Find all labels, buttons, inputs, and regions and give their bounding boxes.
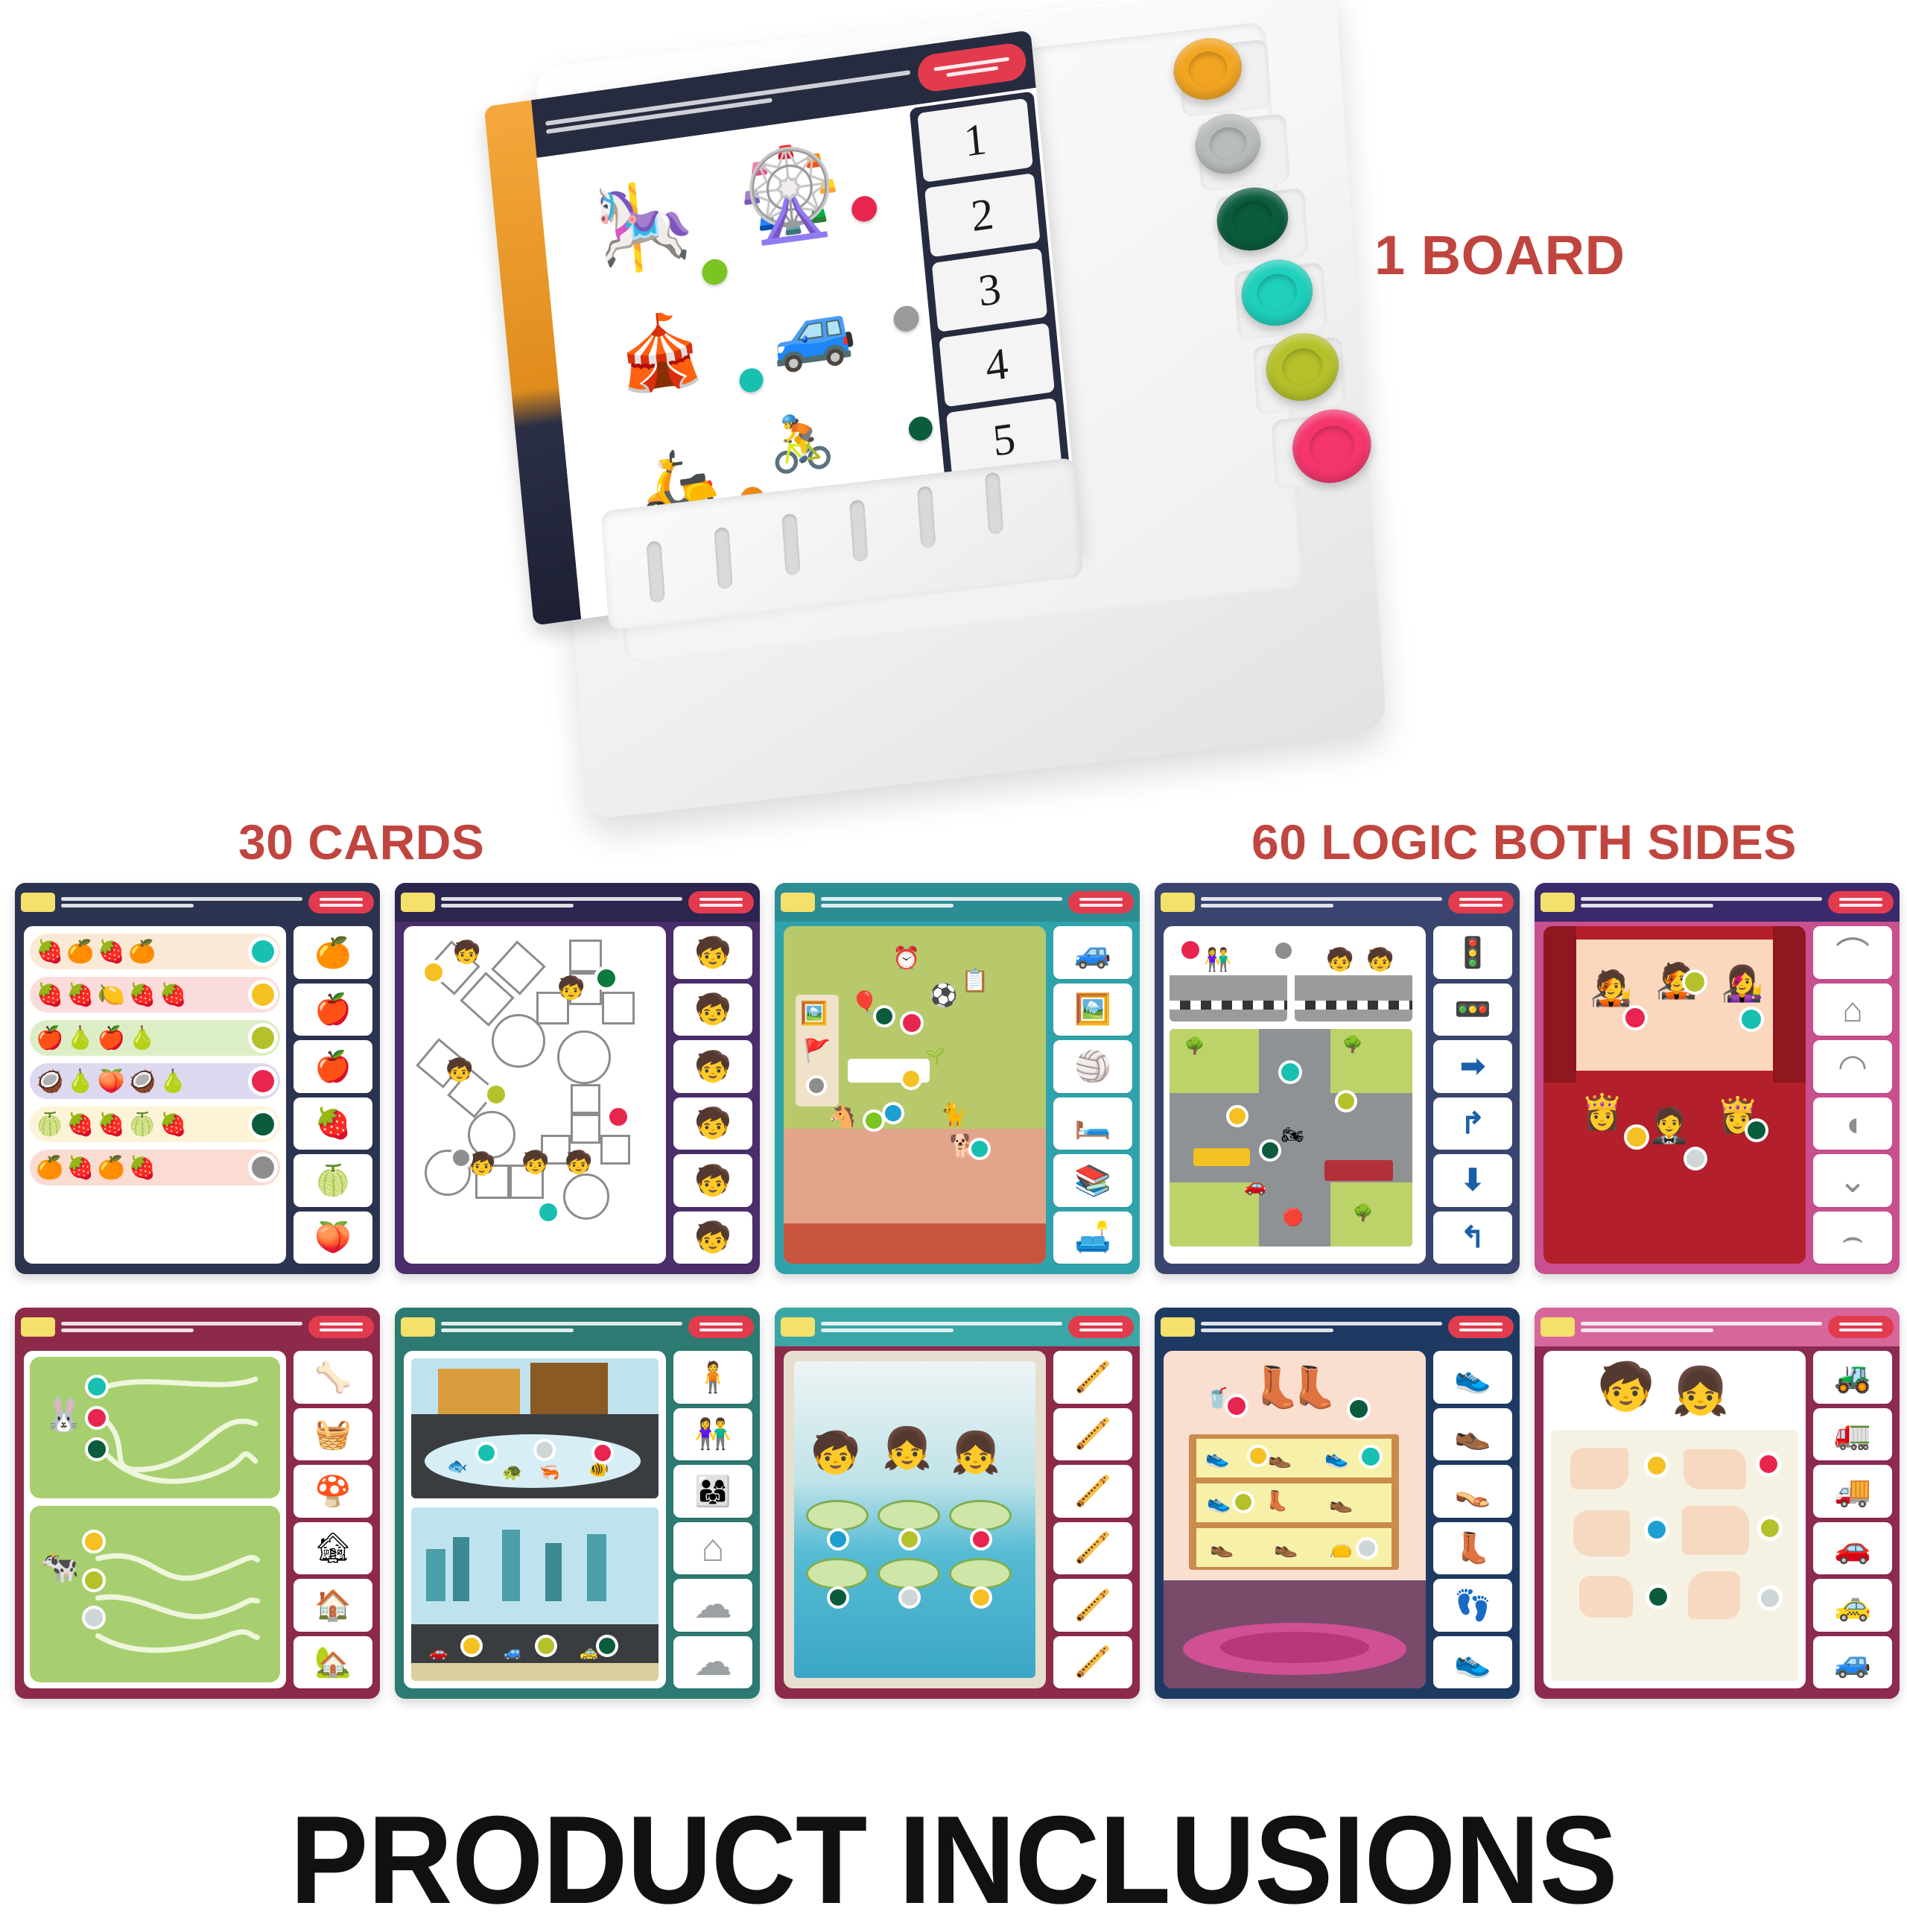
card-stage: 🖼️ 🚩 ⏰ 🎈 ⚽ 📋 🌱 🐴 🐈 🐕 [784, 926, 1046, 1264]
difficulty-badge [1828, 1316, 1894, 1338]
option-2[interactable]: 👫 [673, 1408, 752, 1461]
option-4[interactable]: ◖ [1813, 1098, 1892, 1150]
option-6[interactable]: 🚙 [1813, 1636, 1892, 1689]
option-4[interactable]: ↱ [1433, 1098, 1512, 1150]
card-bedroom-find[interactable]: 🖼️ 🚩 ⏰ 🎈 ⚽ 📋 🌱 🐴 🐈 🐕 🚙 🖼️ 🏐 🛏️ 📚 [775, 883, 1140, 1274]
option-2[interactable]: 🧒 [673, 984, 752, 1036]
option-3[interactable]: 👡 [1433, 1465, 1512, 1518]
option-1[interactable]: 🚜 [1813, 1351, 1892, 1404]
option-6[interactable]: 🪈 [1053, 1636, 1132, 1689]
option-3[interactable]: 👨‍👩‍👧 [673, 1465, 752, 1518]
answer-dot-5[interactable] [907, 415, 933, 442]
option-6[interactable]: 🛋️ [1053, 1212, 1132, 1264]
answer-options[interactable]: 🍊 🍎 🍎 🍓 🍈 🍑 [293, 926, 372, 1264]
page-chip [21, 893, 55, 912]
option-5[interactable]: 🏠 [293, 1579, 372, 1632]
option-3[interactable]: 🚚 [1813, 1465, 1892, 1518]
option-1[interactable]: 🚙 [1053, 926, 1132, 979]
instruction-text [61, 894, 302, 910]
option-5[interactable]: 📚 [1053, 1154, 1132, 1207]
difficulty-badge [308, 1316, 374, 1338]
difficulty-badge [688, 891, 754, 913]
pattern-row-5[interactable]: 🍈🍓🍓🍈🍓 [30, 1106, 280, 1142]
answer-options[interactable]: 🪈 🪈 🪈 🪈 🪈 🪈 [1053, 1351, 1132, 1688]
pattern-row-3[interactable]: 🍎🍐🍎🍐 [30, 1020, 280, 1056]
answer-options[interactable]: ⌒ ⌂ ◠ ◖ ⌄ ⌢ [1813, 926, 1892, 1264]
option-4[interactable]: 🛏️ [1053, 1098, 1132, 1150]
card-stage: 🧒 🧒 🧒 🧒 🧒 🧒 [404, 926, 666, 1264]
answer-options[interactable]: 🚦 🚥 ➡ ↱ ⬇ ↰ [1433, 926, 1512, 1264]
instruction-text [1581, 1319, 1822, 1335]
option-2[interactable]: 🖼️ [1053, 984, 1132, 1036]
page-title: PRODUCT INCLUSIONS [57, 1788, 1850, 1932]
option-1[interactable]: 🧍 [673, 1351, 752, 1404]
carousel-icon: 🎠 [591, 172, 699, 280]
page-chip [401, 893, 435, 912]
option-2[interactable]: 🚥 [1433, 984, 1512, 1036]
label-one-board: 1 BOARD [1374, 224, 1625, 287]
page-chip [1540, 1317, 1575, 1337]
option-4[interactable]: 👢 [1433, 1522, 1512, 1575]
number-button-4[interactable]: 4 [939, 323, 1055, 407]
option-1[interactable]: 🍊 [293, 926, 372, 979]
label-30-cards: 30 CARDS [238, 814, 484, 870]
difficulty-badge [1448, 1316, 1514, 1338]
card-header [15, 883, 380, 922]
difficulty-badge [1068, 1316, 1134, 1338]
option-3[interactable]: ◠ [1813, 1040, 1892, 1093]
card-stage: 🧑‍🎤 🧑‍🎤 👩‍🎤 👸 🤵 👸 [1543, 926, 1806, 1264]
option-1[interactable]: ⌒ [1813, 926, 1892, 979]
option-5[interactable]: 👣 [1433, 1579, 1512, 1632]
option-2[interactable]: 🧺 [293, 1408, 372, 1461]
page-chip [781, 893, 815, 912]
card-stage: 👢 👢 🥤 👟 👞 👟 👟 👢 👞 👞 👞 👝 [1164, 1351, 1426, 1688]
option-6[interactable]: 👟 [1433, 1636, 1512, 1689]
card-theater-costumes[interactable]: 🧑‍🎤 🧑‍🎤 👩‍🎤 👸 🤵 👸 ⌒ ⌂ ◠ ◖ ⌄ ⌢ [1535, 883, 1900, 1274]
option-5[interactable]: 🍈 [293, 1154, 372, 1207]
kids-cycling-icon: 🚴 [765, 407, 837, 479]
option-2[interactable]: ⌂ [1813, 984, 1892, 1036]
swing-ride-icon: 🎪 [612, 305, 708, 400]
card-3d-nets[interactable]: 🧒 🧒 🧒 🧒 🧒 🧒 🧒 🧒 🧒 🧒 🧒 🧒 [395, 883, 760, 1274]
option-5[interactable]: 🚕 [1813, 1579, 1892, 1632]
option-4[interactable]: 🚗 [1813, 1522, 1892, 1575]
answer-dot-4[interactable] [738, 367, 764, 393]
option-3[interactable]: 🍄 [293, 1465, 372, 1518]
card-shoe-rack[interactable]: 👢 👢 🥤 👟 👞 👟 👟 👢 👞 👞 👞 👝 👟 👞 [1155, 1308, 1520, 1699]
answer-options[interactable]: 👟 👞 👡 👢 👣 👟 [1433, 1351, 1512, 1688]
card-pool-snacks[interactable]: 🧒 👧 👧 🪈 🪈 🪈 🪈 🪈 [775, 1308, 1140, 1699]
page-chip [21, 1317, 55, 1337]
answer-dot-3[interactable] [892, 304, 920, 333]
card-difficulty-badge [916, 41, 1028, 93]
number-button-2[interactable]: 2 [924, 173, 1041, 257]
option-3[interactable]: 🏐 [1053, 1040, 1132, 1093]
card-stage: 🐰 🐄 [24, 1351, 286, 1688]
card-traffic-rules[interactable]: 👫 🧒 🧒 🏍 🚗 🛑 🌳 🌳 🌳 [1155, 883, 1520, 1274]
page-chip [1540, 893, 1575, 912]
option-2[interactable]: 👞 [1433, 1408, 1512, 1461]
card-stage: 👫 🧒 🧒 🏍 🚗 🛑 🌳 🌳 🌳 [1164, 926, 1426, 1264]
option-1[interactable]: 🦴 [293, 1351, 372, 1404]
option-5[interactable]: ⌄ [1813, 1154, 1892, 1207]
answer-options[interactable]: 🧒 🧒 🧒 🧒 🧒 🧒 [673, 926, 752, 1264]
option-4[interactable]: 🏚 [293, 1522, 372, 1575]
instruction-text [1581, 894, 1822, 910]
option-3[interactable]: 🍎 [293, 1040, 372, 1093]
bumper-car-icon: 🚙 [767, 286, 860, 377]
option-1[interactable]: 🚦 [1433, 926, 1512, 979]
ferris-wheel-icon: 🎡 [731, 135, 849, 253]
answer-dot-2[interactable] [701, 258, 729, 287]
option-6[interactable]: 🧒 [673, 1212, 752, 1264]
difficulty-badge [308, 891, 374, 913]
page-chip [401, 1317, 435, 1337]
option-6[interactable]: 🏡 [293, 1636, 372, 1689]
option-3[interactable]: 🧒 [673, 1040, 752, 1093]
card-shadow-match[interactable]: 🧒 👧 🚜 🚛 🚚 🚗 🚕 🚙 [1535, 1308, 1900, 1699]
option-6[interactable]: ↰ [1433, 1212, 1512, 1264]
hero-board-section: 🎠 🎡 🎪 🚙 🚴 🛵 [0, 0, 1907, 812]
option-2[interactable]: 🪈 [1053, 1408, 1132, 1461]
option-5[interactable]: 🪈 [1053, 1579, 1132, 1632]
difficulty-badge [1068, 891, 1134, 913]
option-1[interactable]: 🪈 [1053, 1351, 1132, 1404]
answer-options[interactable]: 🚙 🖼️ 🏐 🛏️ 📚 🛋️ [1053, 926, 1132, 1264]
option-1[interactable]: 🧒 [673, 926, 752, 979]
answer-options[interactable]: 🚜 🚛 🚚 🚗 🚕 🚙 [1813, 1351, 1892, 1688]
option-6[interactable]: ⌢ [1813, 1212, 1892, 1264]
card-animal-maze[interactable]: 🐰 🐄 [15, 1308, 380, 1699]
option-4[interactable]: 🍓 [293, 1098, 372, 1150]
option-5[interactable]: ☁ [673, 1579, 752, 1632]
option-1[interactable]: 👟 [1433, 1351, 1512, 1404]
card-stage: 🧒 👧 👧 [784, 1351, 1046, 1688]
card-stage: 🧒 👧 [1543, 1351, 1806, 1688]
instruction-text [821, 894, 1062, 910]
option-2[interactable]: 🍎 [293, 984, 372, 1036]
pattern-row-6[interactable]: 🍊🍓🍊🍓 [30, 1150, 280, 1185]
option-6[interactable]: 🍑 [293, 1212, 372, 1264]
answer-options[interactable]: 🦴 🧺 🍄 🏚 🏠 🏡 [293, 1351, 372, 1688]
option-3[interactable]: ➡ [1433, 1040, 1512, 1093]
option-6[interactable]: ☁ [673, 1636, 752, 1689]
pattern-row-4[interactable]: 🥥🍐🍑🥥🍐 [30, 1063, 280, 1099]
label-60-logic: 60 LOGIC BOTH SIDES [1251, 814, 1797, 870]
number-button-3[interactable]: 3 [932, 248, 1048, 332]
instruction-text [441, 894, 682, 910]
card-fruit-pattern[interactable]: 🍓🍊🍓🍊 🍓🍓🍋🍓🍓 🍎🍐🍎🍐 🥥🍐🍑🥥🍐 🍈🍓🍓🍈🍓 🍊🍓🍊🍓 🍊 🍎 🍎 🍓… [15, 883, 380, 1274]
option-2[interactable]: 🚛 [1813, 1408, 1892, 1461]
difficulty-badge [1448, 891, 1514, 913]
option-5[interactable]: 🧒 [673, 1154, 752, 1207]
answer-options[interactable]: 🧍 👫 👨‍👩‍👧 ⌂ ☁ ☁ [673, 1351, 752, 1688]
card-stage: 🐟 🐢 🦐 🐠 🚗 🚙 🚕 [404, 1351, 666, 1688]
page-chip [1161, 893, 1195, 912]
page-chip [1161, 1317, 1195, 1337]
difficulty-badge [1828, 891, 1894, 913]
number-button-1[interactable]: 1 [917, 98, 1033, 183]
instruction-text [61, 1319, 302, 1335]
pattern-row-2[interactable]: 🍓🍓🍋🍓🍓 [30, 977, 280, 1013]
option-3[interactable]: 🪈 [1053, 1465, 1132, 1518]
card-city-scenes[interactable]: 🐟 🐢 🦐 🐠 🚗 🚙 🚕 [395, 1308, 760, 1699]
instruction-text [1201, 1319, 1442, 1335]
card-stage: 🍓🍊🍓🍊 🍓🍓🍋🍓🍓 🍎🍐🍎🍐 🥥🍐🍑🥥🍐 🍈🍓🍓🍈🍓 🍊🍓🍊🍓 [24, 926, 286, 1264]
card-grid: 🍓🍊🍓🍊 🍓🍓🍋🍓🍓 🍎🍐🍎🍐 🥥🍐🍑🥥🍐 🍈🍓🍓🍈🍓 🍊🍓🍊🍓 🍊 🍎 🍎 🍓… [0, 883, 1907, 1762]
instruction-text [1201, 894, 1442, 910]
option-5[interactable]: ⬇ [1433, 1154, 1512, 1207]
pattern-row-1[interactable]: 🍓🍊🍓🍊 [30, 934, 280, 969]
difficulty-badge [688, 1316, 754, 1338]
option-4[interactable]: ⌂ [673, 1522, 752, 1575]
instruction-text [821, 1319, 1062, 1335]
instruction-text [441, 1319, 682, 1335]
board-assembly: 🎠 🎡 🎪 🚙 🚴 🛵 [514, 7, 1438, 820]
answer-dot-1[interactable] [851, 194, 878, 224]
option-4[interactable]: 🪈 [1053, 1522, 1132, 1575]
option-4[interactable]: 🧒 [673, 1098, 752, 1150]
page-chip [781, 1317, 815, 1337]
